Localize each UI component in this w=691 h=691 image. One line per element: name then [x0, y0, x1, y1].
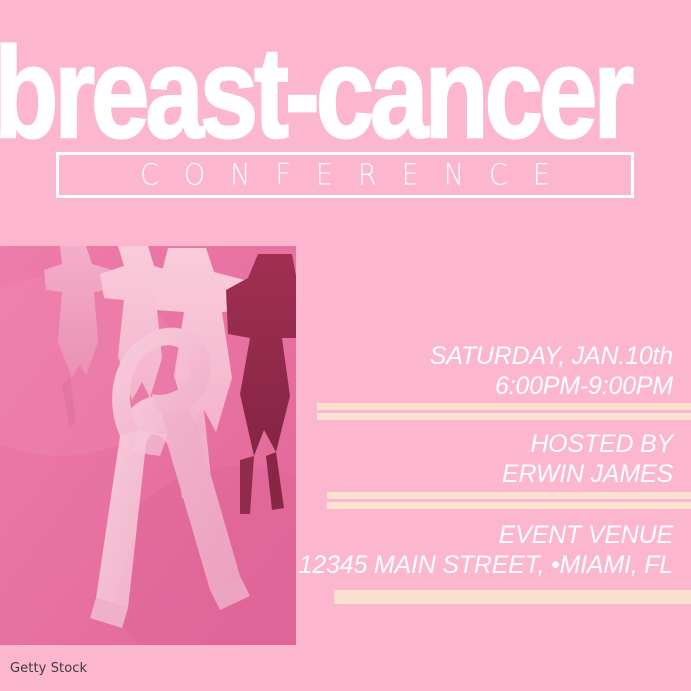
event-time-line: 6:00PM-9:00PM — [495, 372, 673, 401]
host-name: ERWIN JAMES — [502, 460, 673, 489]
event-details: SATURDAY, JAN.10th 6:00PM-9:00PM HOSTED … — [300, 246, 691, 645]
poster-canvas: breast-cancer CONFERENCE — [0, 0, 691, 691]
venue-address: 12345 MAIN STREET, •MIAMI, FL — [299, 551, 673, 580]
hero-photo — [0, 246, 296, 645]
host-label: HOSTED BY — [530, 430, 673, 459]
conference-label: CONFERENCE — [59, 153, 631, 196]
divider-one — [317, 403, 691, 420]
divider-bar-bottom — [317, 413, 691, 420]
divider-three — [334, 590, 691, 604]
divider-bar-single — [334, 590, 691, 604]
title-block: breast-cancer — [0, 34, 691, 152]
conference-badge: CONFERENCE — [56, 152, 634, 198]
divider-bar-top — [317, 403, 691, 410]
image-credit-caption: Getty Stock — [10, 661, 87, 676]
breast-cancer-ribbon-photo-icon — [0, 246, 296, 645]
divider-two — [327, 492, 691, 509]
venue-label: EVENT VENUE — [499, 521, 673, 550]
event-date-line: SATURDAY, JAN.10th — [430, 342, 673, 371]
divider-bar-top — [327, 492, 691, 499]
page-title: breast-cancer — [0, 28, 604, 157]
divider-bar-bottom — [327, 502, 691, 509]
